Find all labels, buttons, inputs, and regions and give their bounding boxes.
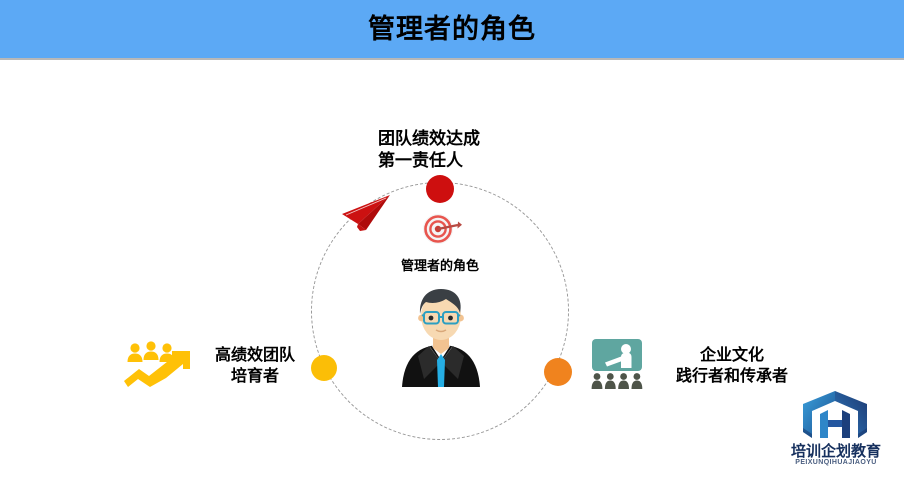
diagram-canvas: 团队绩效达成 第一责任人 管理者的角色: [0, 60, 904, 503]
node-marker-left[interactable]: [311, 355, 337, 381]
node-right-label-line1: 企业文化: [652, 345, 812, 366]
node-left-label: 高绩效团队 培育者: [196, 345, 314, 387]
node-right-label-line2: 践行者和传承者: [652, 366, 812, 387]
logo-name-text: 培训企划教育: [780, 440, 892, 461]
hexagon-house-h-logo-icon: [794, 390, 876, 442]
node-left-label-line1: 高绩效团队: [196, 345, 314, 366]
brand-logo: 培训企划教育 PEIXUNQIHUAJIAOYU: [780, 390, 892, 475]
target-bullseye-icon: [420, 210, 462, 248]
node-left-label-line2: 培育者: [196, 366, 314, 387]
training-presentation-icon: [588, 338, 646, 390]
businessman-avatar-icon: [396, 282, 486, 387]
node-right-label: 企业文化 践行者和传承者: [652, 345, 812, 387]
paper-plane-icon: [340, 194, 392, 232]
node-top-label-line1: 团队绩效达成: [378, 128, 618, 150]
node-marker-top[interactable]: [426, 175, 454, 203]
diagram-center-label: 管理者的角色: [340, 255, 540, 274]
node-top-label-line2: 第一责任人: [378, 150, 618, 172]
logo-pinyin-text: PEIXUNQIHUAJIAOYU: [780, 459, 892, 466]
team-growth-chart-icon: [122, 340, 194, 390]
node-top-label: 团队绩效达成 第一责任人: [378, 128, 618, 172]
slide-root: 管理者的角色 团队绩效达成 第一责任人: [0, 0, 904, 503]
node-marker-right[interactable]: [544, 358, 572, 386]
page-title: 管理者的角色: [0, 0, 904, 58]
